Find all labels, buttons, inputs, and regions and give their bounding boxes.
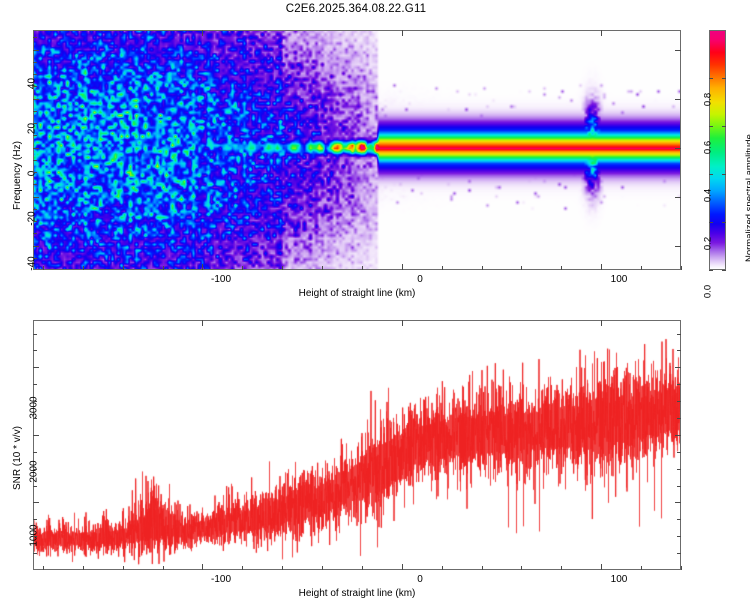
spectrogram-xtick-minor-140 — [681, 266, 682, 270]
colorbar-tick-0.2: 0.2 — [703, 224, 714, 264]
spectrogram-ytick-minor-10 — [33, 123, 37, 124]
spectrogram-ytick-20: 20 — [27, 109, 38, 149]
spectrogram-xtick-major-top--100 — [202, 30, 203, 36]
snr-xtick-major-0 — [402, 564, 403, 570]
spectrogram-ytick-major-40 — [33, 50, 39, 51]
spectrogram-ytick-major-0 — [33, 148, 39, 149]
snr-ytick-major-right-1000 — [675, 502, 681, 503]
snr-xtick-major--100 — [202, 564, 203, 570]
snr-ytick-major-1000 — [33, 502, 39, 503]
colorbar-tick-0.0: 0.0 — [703, 272, 714, 312]
snr-ytick-minor-right-1250 — [677, 486, 681, 487]
spectrogram-ytick-minor-35 — [33, 62, 37, 63]
spectrogram-xtick-major-top-0 — [402, 30, 403, 36]
colorbar-tick-0.6: 0.6 — [703, 128, 714, 168]
colorbar-tick-mark-right-0.6 — [722, 126, 726, 127]
spectrogram-ytick-minor--30 — [33, 221, 37, 222]
colorbar-label: Normalized spectral amplitude — [744, 134, 750, 262]
snr-xtick-minor-120 — [641, 566, 642, 570]
spectrogram-ytick-minor--35 — [33, 233, 37, 234]
snr-xtick-minor--140 — [123, 566, 124, 570]
snr-ytick-minor-right-1500 — [677, 469, 681, 470]
snr-xlabel: Height of straight line (km) — [257, 588, 457, 599]
spectrogram-xtick-minor--40 — [322, 266, 323, 270]
snr-ytick-3000: 3000 — [29, 386, 40, 430]
snr-xtick-major-top-100 — [601, 320, 602, 326]
snr-ytick-minor-250 — [33, 553, 37, 554]
snr-xtick-minor-80 — [561, 566, 562, 570]
snr-ytick-minor-right-3500 — [677, 334, 681, 335]
spectrogram-ytick-major-right-20 — [675, 99, 681, 100]
snr-ytick-minor-1250 — [33, 486, 37, 487]
spectrogram-xlabel: Height of straight line (km) — [257, 288, 457, 299]
snr-ytick-minor-right-2750 — [677, 384, 681, 385]
spectrogram-ytick-major-right--20 — [675, 197, 681, 198]
figure-canvas: C2E6.2025.364.08.22.G11 Frequency (Hz) H… — [0, 0, 750, 600]
snr-xtick-0: 0 — [400, 574, 440, 585]
colorbar-tick-mark-right-0.8 — [722, 78, 726, 79]
figure-title: C2E6.2025.364.08.22.G11 — [0, 3, 712, 15]
spectrogram-xtick-0: 0 — [400, 274, 440, 285]
snr-xtick-minor-140 — [681, 566, 682, 570]
snr-ylabel: SNR (10 * v/v) — [12, 426, 23, 490]
snr-xtick--100: -100 — [201, 574, 241, 585]
spectrogram-ytick-minor-15 — [33, 111, 37, 112]
spectrogram-xtick-minor--80 — [242, 266, 243, 270]
colorbar-tick-mark-0 — [709, 270, 713, 271]
spectrogram-xtick-major--100 — [202, 264, 203, 270]
spectrogram-ytick-minor-45 — [33, 37, 37, 38]
spectrogram-xtick-major-100 — [601, 264, 602, 270]
snr-ytick-minor-1750 — [33, 452, 37, 453]
snr-ytick-minor-right-3250 — [677, 350, 681, 351]
spectrogram-ytick-major-right-0 — [675, 148, 681, 149]
snr-ytick-major-right-3000 — [675, 367, 681, 368]
spectrogram-xtick-major-0 — [402, 264, 403, 270]
snr-ytick-minor-1500 — [33, 469, 37, 470]
snr-ytick-minor-2500 — [33, 401, 37, 402]
spectrogram-xtick-minor--20 — [362, 266, 363, 270]
spectrogram-image — [34, 31, 680, 269]
colorbar-tick-mark-0.6 — [709, 126, 713, 127]
snr-xtick-minor-60 — [521, 566, 522, 570]
snr-ytick-minor-2750 — [33, 384, 37, 385]
spectrogram-ytick-minor--10 — [33, 172, 37, 173]
snr-xtick-minor--160 — [83, 566, 84, 570]
snr-ytick-minor-right-250 — [677, 553, 681, 554]
snr-trace — [34, 321, 680, 569]
spectrogram-xtick-minor--120 — [163, 266, 164, 270]
spectrogram-xtick-minor--160 — [83, 266, 84, 270]
colorbar-tick-mark-right-0.2 — [722, 222, 726, 223]
spectrogram-xtick-minor-80 — [561, 266, 562, 270]
snr-ytick-minor-3250 — [33, 350, 37, 351]
spectrogram-ytick-minor-30 — [33, 74, 37, 75]
colorbar-tick-0.4: 0.4 — [703, 176, 714, 216]
snr-ytick-major-right-2000 — [675, 435, 681, 436]
spectrogram-panel — [33, 30, 681, 270]
spectrogram-ytick-40: 40 — [27, 64, 38, 104]
snr-ytick-minor-500 — [33, 536, 37, 537]
spectrogram-ytick-major-20 — [33, 99, 39, 100]
spectrogram-ytick-minor--15 — [33, 184, 37, 185]
snr-ytick-minor-right-1750 — [677, 452, 681, 453]
snr-xtick-100: 100 — [599, 574, 639, 585]
snr-ytick-major-3000 — [33, 367, 39, 368]
snr-xtick-minor-20 — [442, 566, 443, 570]
spectrogram-xtick--100: -100 — [201, 274, 241, 285]
snr-ytick-minor-750 — [33, 519, 37, 520]
snr-xtick-major-top--100 — [202, 320, 203, 326]
spectrogram-xtick-minor-40 — [482, 266, 483, 270]
snr-ytick-minor-right-2500 — [677, 401, 681, 402]
spectrogram-ytick-major-right-40 — [675, 50, 681, 51]
colorbar-tick-mark-0.2 — [709, 222, 713, 223]
colorbar-tick-0.8: 0.8 — [703, 80, 714, 120]
spectrogram-ytick-major--20 — [33, 197, 39, 198]
spectrogram-xtick-minor-120 — [641, 266, 642, 270]
colorbar-tick-mark-0.8 — [709, 78, 713, 79]
snr-ytick-minor-right-500 — [677, 536, 681, 537]
snr-ytick-minor-2250 — [33, 418, 37, 419]
spectrogram-ytick-major--40 — [33, 246, 39, 247]
snr-xtick-minor--180 — [43, 566, 44, 570]
spectrogram-xtick-minor-60 — [521, 266, 522, 270]
colorbar-tick-mark-0.4 — [709, 174, 713, 175]
spectrogram-ytick-minor--45 — [33, 258, 37, 259]
spectrogram-xtick-minor-20 — [442, 266, 443, 270]
colorbar-tick-mark-right-0.4 — [722, 174, 726, 175]
snr-ytick-minor-right-750 — [677, 519, 681, 520]
snr-ytick-major-2000 — [33, 435, 39, 436]
spectrogram-ytick-minor-5 — [33, 135, 37, 136]
snr-xtick-minor--80 — [242, 566, 243, 570]
snr-xtick-minor--40 — [322, 566, 323, 570]
spectrogram-ytick-major-right--40 — [675, 246, 681, 247]
spectrogram-xtick-major-top-100 — [601, 30, 602, 36]
colorbar-tick-mark-right-0 — [722, 270, 726, 271]
snr-panel — [33, 320, 681, 570]
snr-xtick-major-top-0 — [402, 320, 403, 326]
snr-ytick-minor-3500 — [33, 334, 37, 335]
spectrogram-xtick-100: 100 — [599, 274, 639, 285]
spectrogram-xtick-minor--60 — [282, 266, 283, 270]
spectrogram-ytick-minor--5 — [33, 160, 37, 161]
spectrogram-ytick-minor--25 — [33, 209, 37, 210]
snr-xtick-minor-40 — [482, 566, 483, 570]
spectrogram-ylabel: Frequency (Hz) — [12, 141, 23, 210]
snr-xtick-minor--120 — [163, 566, 164, 570]
spectrogram-ytick--40: -40 — [27, 244, 38, 284]
snr-xtick-major-100 — [601, 564, 602, 570]
snr-ytick-minor-right-2250 — [677, 418, 681, 419]
spectrogram-xtick-minor--140 — [123, 266, 124, 270]
spectrogram-xtick-minor--180 — [43, 266, 44, 270]
spectrogram-ytick-minor-25 — [33, 86, 37, 87]
snr-xtick-minor--60 — [282, 566, 283, 570]
snr-xtick-minor--20 — [362, 566, 363, 570]
